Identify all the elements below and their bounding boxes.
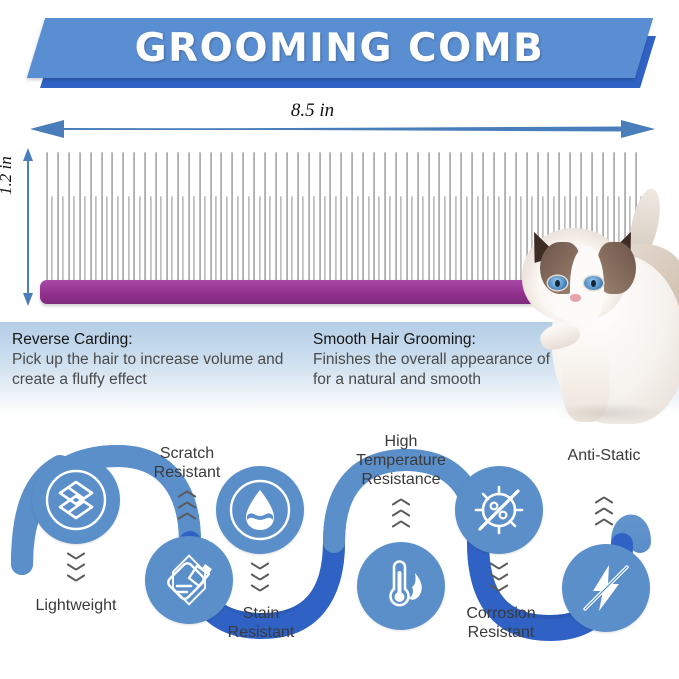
comb-tooth <box>57 152 59 288</box>
comb-tooth <box>455 196 457 288</box>
comb-tooth <box>482 152 484 288</box>
layers-cube-icon <box>45 469 107 531</box>
benefit-body: Pick up the hair to increase volume and … <box>12 350 312 389</box>
comb-tooth <box>357 196 359 288</box>
cat-head <box>522 228 626 322</box>
comb-tooth <box>220 152 222 288</box>
comb-tooth <box>400 196 402 288</box>
comb-tooth <box>171 196 173 288</box>
comb-tooth <box>368 196 370 288</box>
chevrons-stain-resistant <box>245 562 275 595</box>
comb-tooth <box>90 152 92 288</box>
chevron-down-icon <box>251 573 269 582</box>
corrosion-line-2: Resistant <box>468 624 535 641</box>
stain-line-1: Stain <box>243 605 279 622</box>
comb-tooth <box>449 152 451 288</box>
product-infographic: GROOMING COMB 8.5 in 1.2 in <box>0 0 679 679</box>
feature-label-high-temperature-resistance: High Temperature Resistance <box>326 432 476 489</box>
comb-tooth <box>193 196 195 288</box>
comb-tooth <box>259 196 261 288</box>
comb-tooth <box>422 196 424 288</box>
hightemp-line-2: Temperature <box>356 452 446 469</box>
cat-eye-left <box>548 276 567 290</box>
corrosion-line-1: Corrosion <box>466 605 535 622</box>
comb-tooth <box>111 152 113 288</box>
benefit-reverse-carding: Reverse Carding: Pick up the hair to inc… <box>12 330 312 389</box>
comb-tooth <box>51 196 53 288</box>
comb-tooth <box>493 152 495 288</box>
comb-tooth <box>177 152 179 288</box>
comb-tooth <box>210 152 212 288</box>
comb-tooth <box>417 152 419 288</box>
comb-tooth <box>313 196 315 288</box>
comb-tooth <box>95 196 97 288</box>
width-value: 8.5 in <box>283 100 342 122</box>
comb-tooth <box>73 196 75 288</box>
comb-tooth <box>231 152 233 288</box>
chevron-down-icon <box>251 584 269 593</box>
comb-tooth <box>291 196 293 288</box>
chevron-down-icon <box>67 563 85 572</box>
chevron-down-icon <box>67 552 85 561</box>
width-dimension-label: 8.5 in <box>0 100 625 122</box>
comb-tooth <box>389 196 391 288</box>
comb-tooth <box>406 152 408 288</box>
chevrons-anti-static <box>589 502 619 535</box>
comb-tooth <box>487 196 489 288</box>
page-title: GROOMING COMB <box>0 18 679 78</box>
comb-tooth <box>308 152 310 288</box>
cat-pupil-left <box>555 280 560 287</box>
comb-tooth <box>329 152 331 288</box>
comb-tooth <box>79 152 81 288</box>
stain-line-2: Resistant <box>228 624 295 641</box>
thermometer-flame-icon <box>370 555 432 617</box>
chevron-down-icon <box>490 573 508 582</box>
comb-tooth <box>302 196 304 288</box>
cat-eye-right <box>584 276 603 290</box>
scratch-line-1: Scratch <box>160 445 214 462</box>
comb-tooth <box>362 152 364 288</box>
cat-nose <box>570 294 581 302</box>
ragdoll-cat-photo <box>506 214 679 426</box>
comb-tooth <box>46 152 48 288</box>
chevrons-lightweight <box>61 552 91 585</box>
comb-tooth <box>395 152 397 288</box>
comb-tooth <box>68 152 70 288</box>
comb-tooth <box>411 196 413 288</box>
comb-tooth <box>335 196 337 288</box>
comb-tooth <box>351 152 353 288</box>
water-droplet-icon <box>229 479 291 541</box>
comb-tooth <box>139 196 141 288</box>
feature-label-corrosion-resistant: Corrosion Resistant <box>432 604 570 642</box>
comb-tooth <box>199 152 201 288</box>
comb-tooth <box>346 196 348 288</box>
header-banner: GROOMING COMB <box>0 8 679 94</box>
chevrons-high-temperature-resistance <box>386 504 416 537</box>
chevron-up-icon <box>392 526 410 535</box>
comb-tooth <box>144 152 146 288</box>
chevrons-corrosion-resistant <box>484 562 514 595</box>
comb-tooth <box>182 196 184 288</box>
comb-tooth <box>460 152 462 288</box>
comb-tooth <box>215 196 217 288</box>
chevrons-scratch-resistant <box>172 496 202 529</box>
comb-tooth <box>275 152 277 288</box>
comb-tooth <box>340 152 342 288</box>
comb-tooth <box>269 196 271 288</box>
comb-tooth <box>378 196 380 288</box>
height-dimension-arrow <box>20 148 36 306</box>
features-section: Lightweight Scratch Resistant <box>0 424 679 679</box>
comb-tooth <box>248 196 250 288</box>
comb-tooth <box>204 196 206 288</box>
lightning-crossed-out-icon <box>575 557 637 619</box>
comb-tooth <box>128 196 130 288</box>
comb-tooth <box>324 196 326 288</box>
comb-tooth <box>242 152 244 288</box>
comb-tooth <box>498 196 500 288</box>
feature-icon-anti-static[interactable] <box>562 544 650 632</box>
chevron-down-icon <box>490 584 508 593</box>
comb-tooth <box>117 196 119 288</box>
comb-tooth <box>466 196 468 288</box>
chevron-down-icon <box>251 562 269 571</box>
comb-tooth <box>150 196 152 288</box>
comb-tooth <box>264 152 266 288</box>
hightemp-line-1: High <box>385 433 418 450</box>
scratch-line-2: Resistant <box>154 464 221 481</box>
chevron-down-icon <box>67 574 85 583</box>
comb-tooth <box>166 152 168 288</box>
comb-tooth <box>253 152 255 288</box>
diamond-stylus-icon <box>159 550 219 610</box>
comb-tooth <box>122 152 124 288</box>
comb-tooth <box>438 152 440 288</box>
chevron-up-icon <box>178 518 196 527</box>
comb-tooth <box>471 152 473 288</box>
comb-tooth <box>188 152 190 288</box>
comb-tooth <box>101 152 103 288</box>
height-dimension-label: 1.2 in <box>0 156 16 195</box>
comb-tooth <box>319 152 321 288</box>
comb-tooth <box>133 152 135 288</box>
comb-tooth <box>155 152 157 288</box>
comb-tooth <box>237 196 239 288</box>
comb-tooth <box>280 196 282 288</box>
comb-tooth <box>160 196 162 288</box>
comb-tooth <box>477 196 479 288</box>
comb-tooth <box>384 152 386 288</box>
feature-icon-corrosion-resistant[interactable] <box>455 466 543 554</box>
hightemp-line-3: Resistance <box>361 471 440 488</box>
comb-tooth <box>106 196 108 288</box>
benefit-heading: Reverse Carding: <box>12 330 312 349</box>
chevron-down-icon <box>490 562 508 571</box>
comb-tooth <box>226 196 228 288</box>
comb-tooth <box>373 152 375 288</box>
comb-tooth <box>428 152 430 288</box>
chevron-up-icon <box>595 524 613 533</box>
feature-icon-stain-resistant[interactable] <box>216 466 304 554</box>
comb-tooth <box>297 152 299 288</box>
comb-tooth <box>62 196 64 288</box>
germ-crossed-out-icon <box>468 479 530 541</box>
comb-tooth <box>444 196 446 288</box>
cat-shadow <box>554 402 664 424</box>
feature-label-stain-resistant: Stain Resistant <box>196 604 326 642</box>
feature-label-anti-static: Anti-Static <box>534 446 674 465</box>
feature-label-lightweight: Lightweight <box>6 596 146 615</box>
comb-tooth <box>286 152 288 288</box>
comb-tooth <box>84 196 86 288</box>
comb-tooth <box>433 196 435 288</box>
feature-icon-lightweight[interactable] <box>32 456 120 544</box>
cat-pupil-right <box>591 280 596 287</box>
